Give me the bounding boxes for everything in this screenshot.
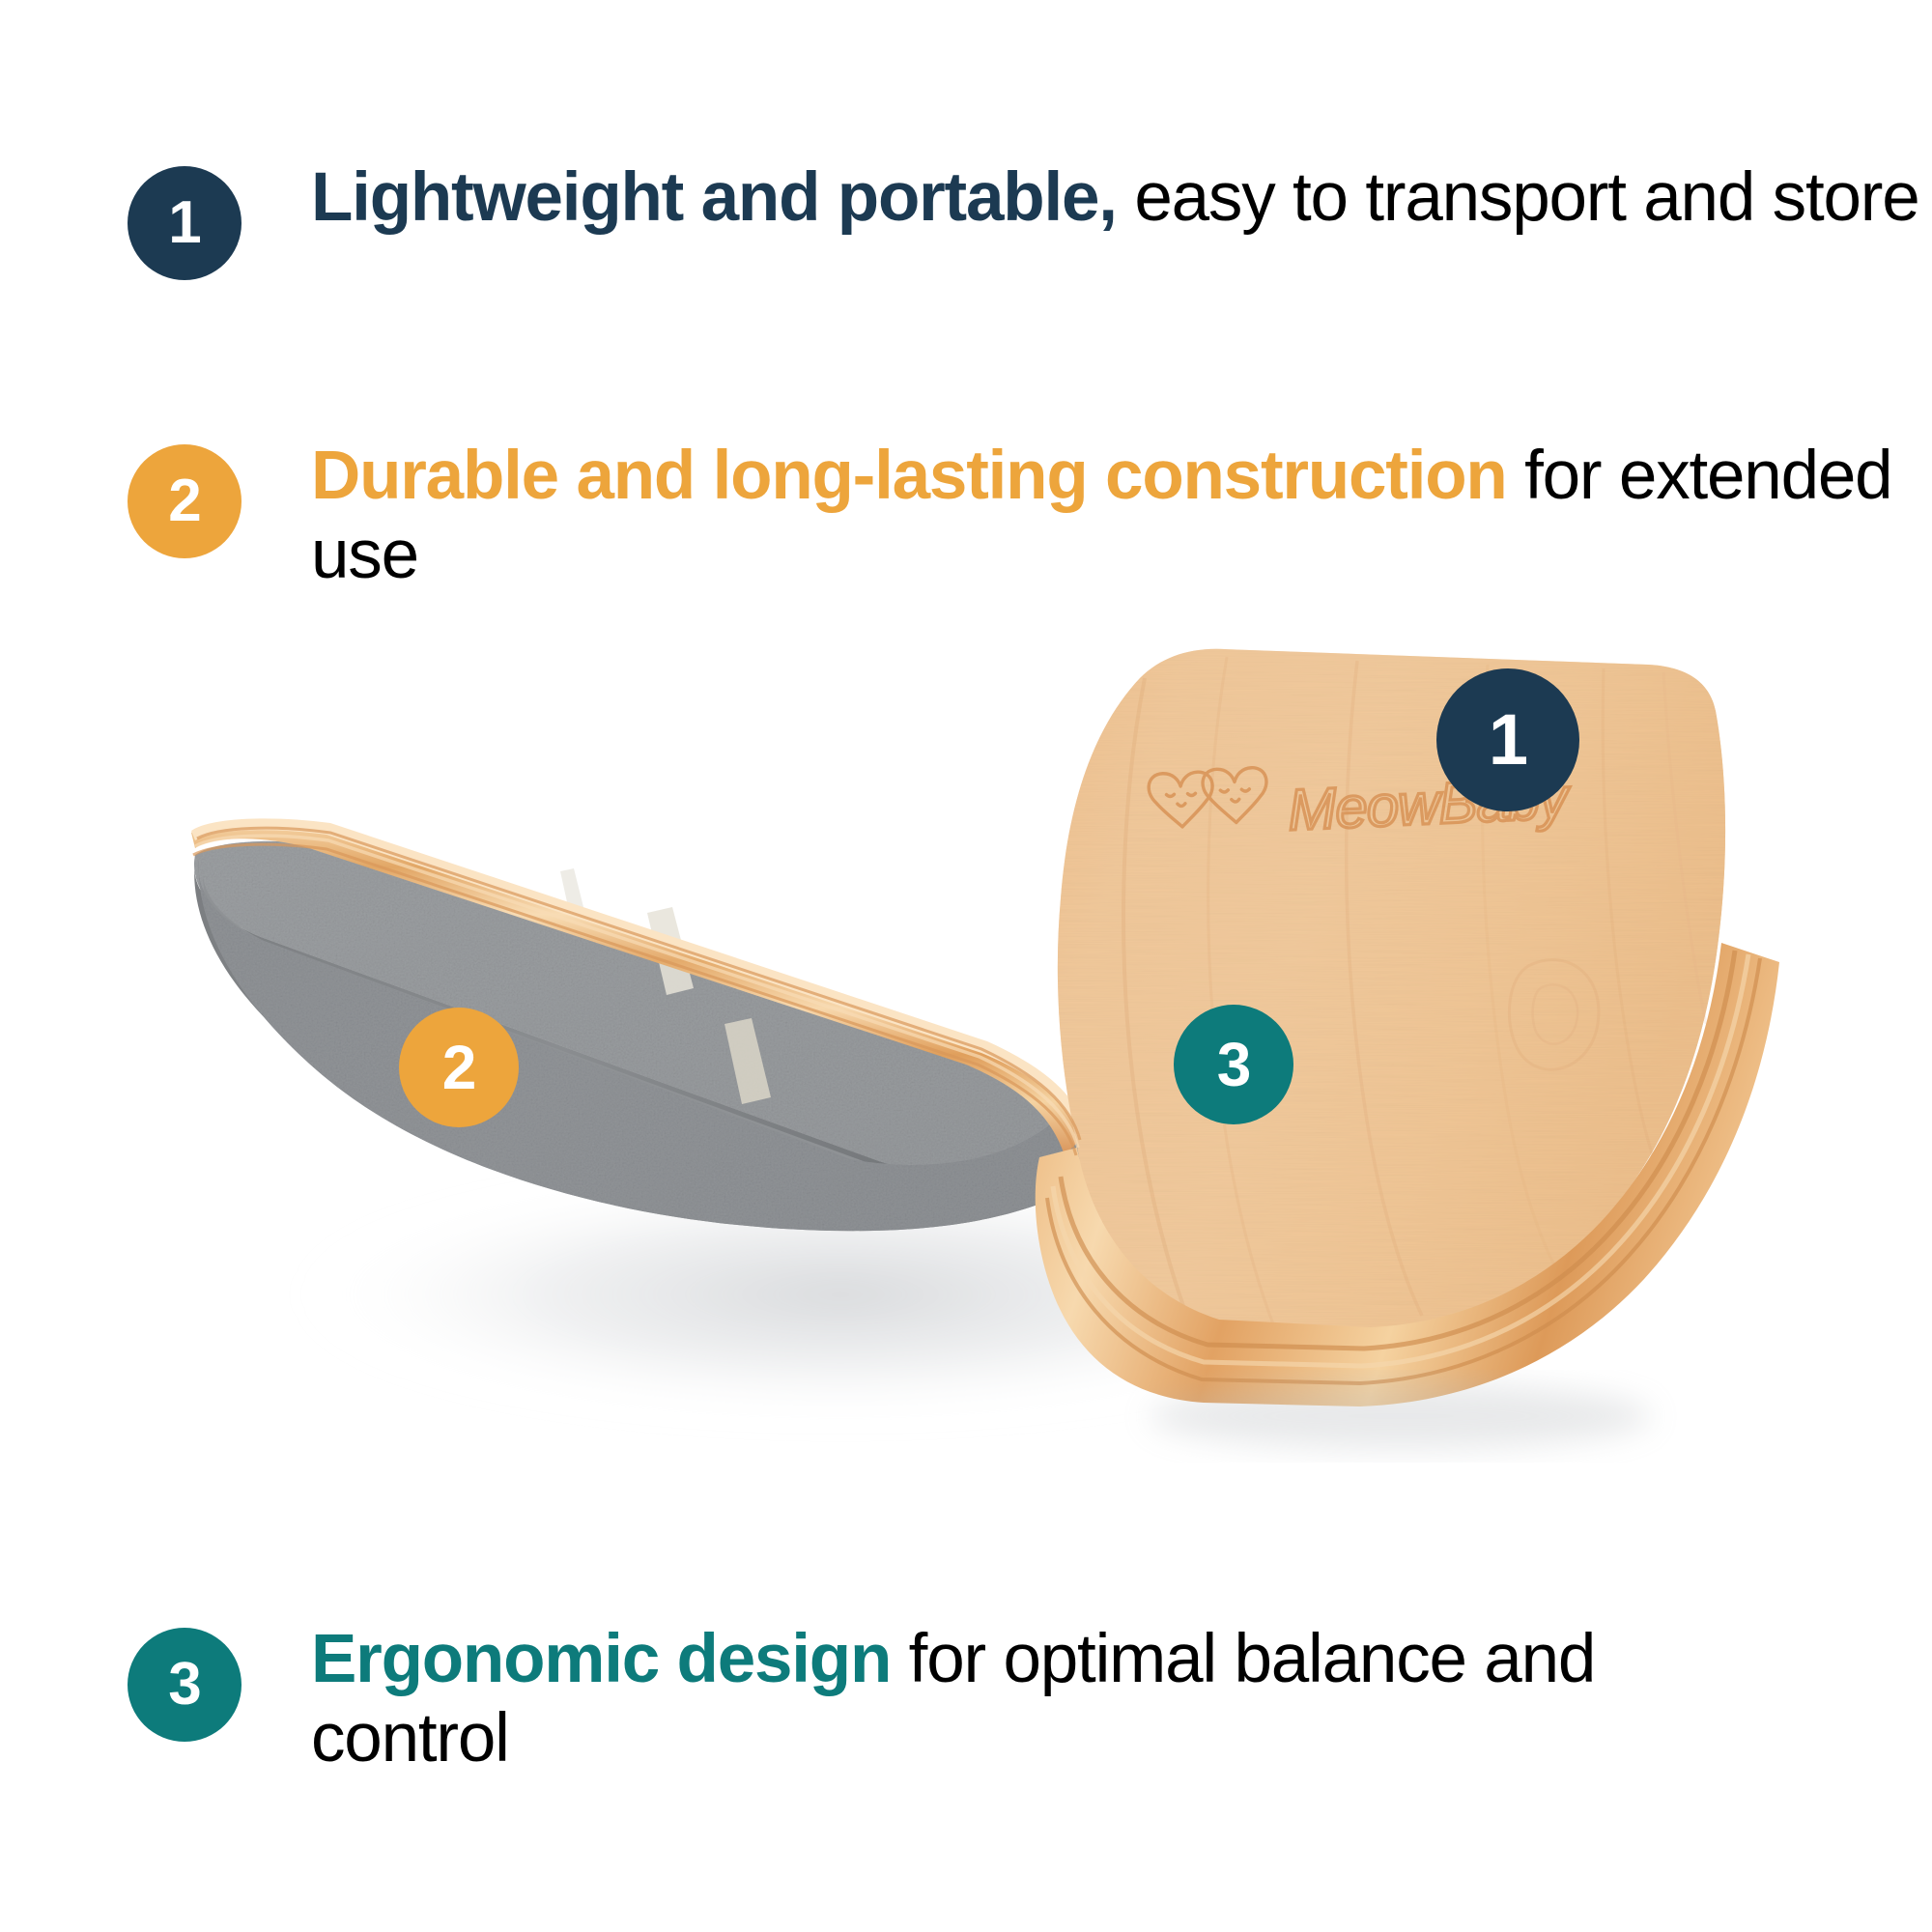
- feature-badge-3: 3: [128, 1628, 241, 1742]
- feature-text-2: Durable and long-lasting construction fo…: [311, 437, 1932, 596]
- feature-lead-3: Ergonomic design: [311, 1621, 891, 1697]
- product-callout-2: 2: [399, 1008, 519, 1127]
- feature-rest-1: easy to transport and store: [1117, 159, 1919, 236]
- feature-text-1: Lightweight and portable, easy to transp…: [311, 158, 1932, 238]
- feature-badge-2: 2: [128, 444, 241, 558]
- feature-badge-1: 1: [128, 166, 241, 280]
- feature-lead-1: Lightweight and portable,: [311, 159, 1117, 236]
- cat-hearts-icon: [1148, 767, 1267, 828]
- feature-text-3: Ergonomic design for optimal balance and…: [311, 1620, 1760, 1779]
- product-callout-1: 1: [1436, 668, 1579, 811]
- feature-lead-2: Durable and long-lasting construction: [311, 438, 1507, 514]
- product-callout-3: 3: [1174, 1005, 1293, 1124]
